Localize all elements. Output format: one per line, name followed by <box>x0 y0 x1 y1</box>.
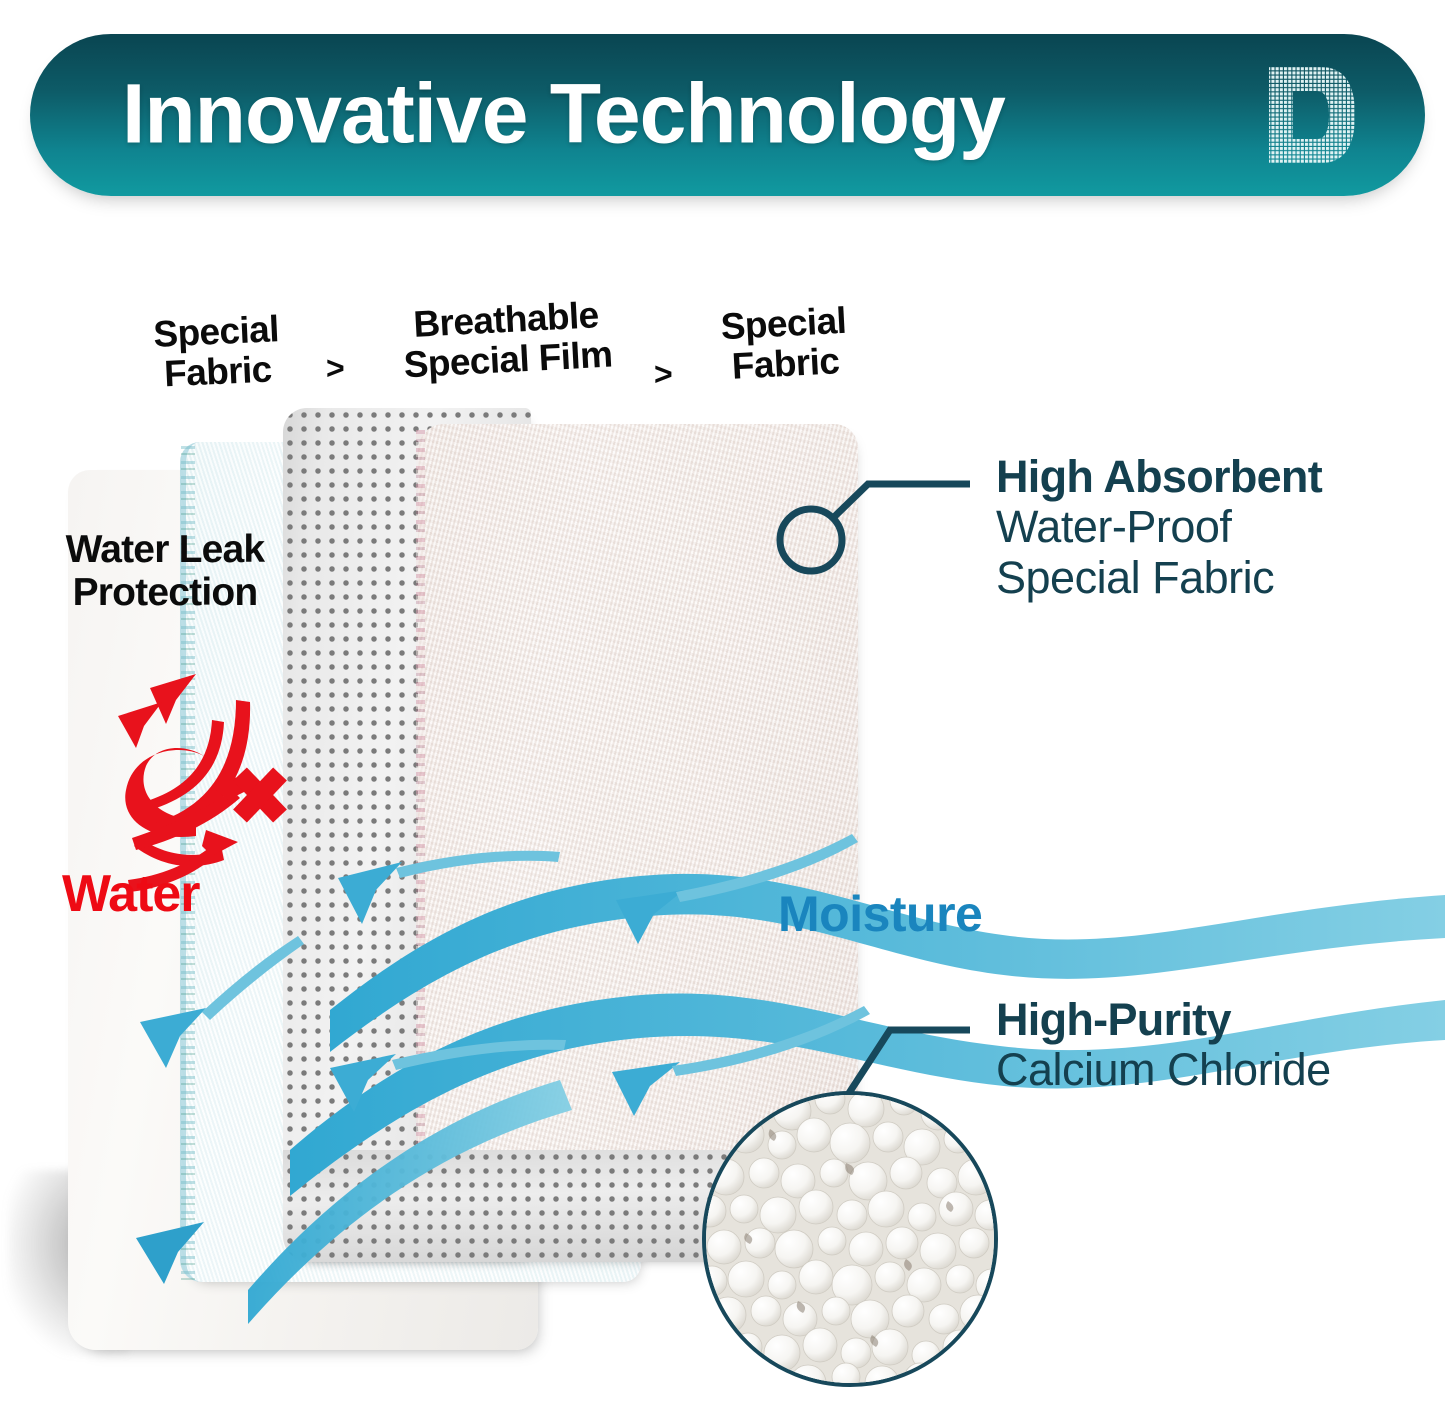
layer-special-fabric-right <box>418 424 858 1172</box>
water-leak-protection-label: Water Leak Protection <box>50 528 280 615</box>
callout-subtitle-line-1: Water-Proof <box>996 502 1322 552</box>
callout-title: High-Purity <box>996 995 1331 1045</box>
callout-title: High Absorbent <box>996 452 1322 502</box>
callout-high-absorbent: High Absorbent Water-Proof Special Fabri… <box>996 452 1322 603</box>
water-label: Water <box>62 868 200 920</box>
calcium-chloride-pellets-photo <box>702 1091 998 1387</box>
callout-high-purity: High-Purity Calcium Chloride <box>996 995 1331 1096</box>
moisture-label: Moisture <box>778 889 982 939</box>
callout-subtitle-line-1: Calcium Chloride <box>996 1045 1331 1095</box>
fabric-right-seam-edge <box>416 430 425 1172</box>
callout-subtitle-line-2: Special Fabric <box>996 553 1322 603</box>
